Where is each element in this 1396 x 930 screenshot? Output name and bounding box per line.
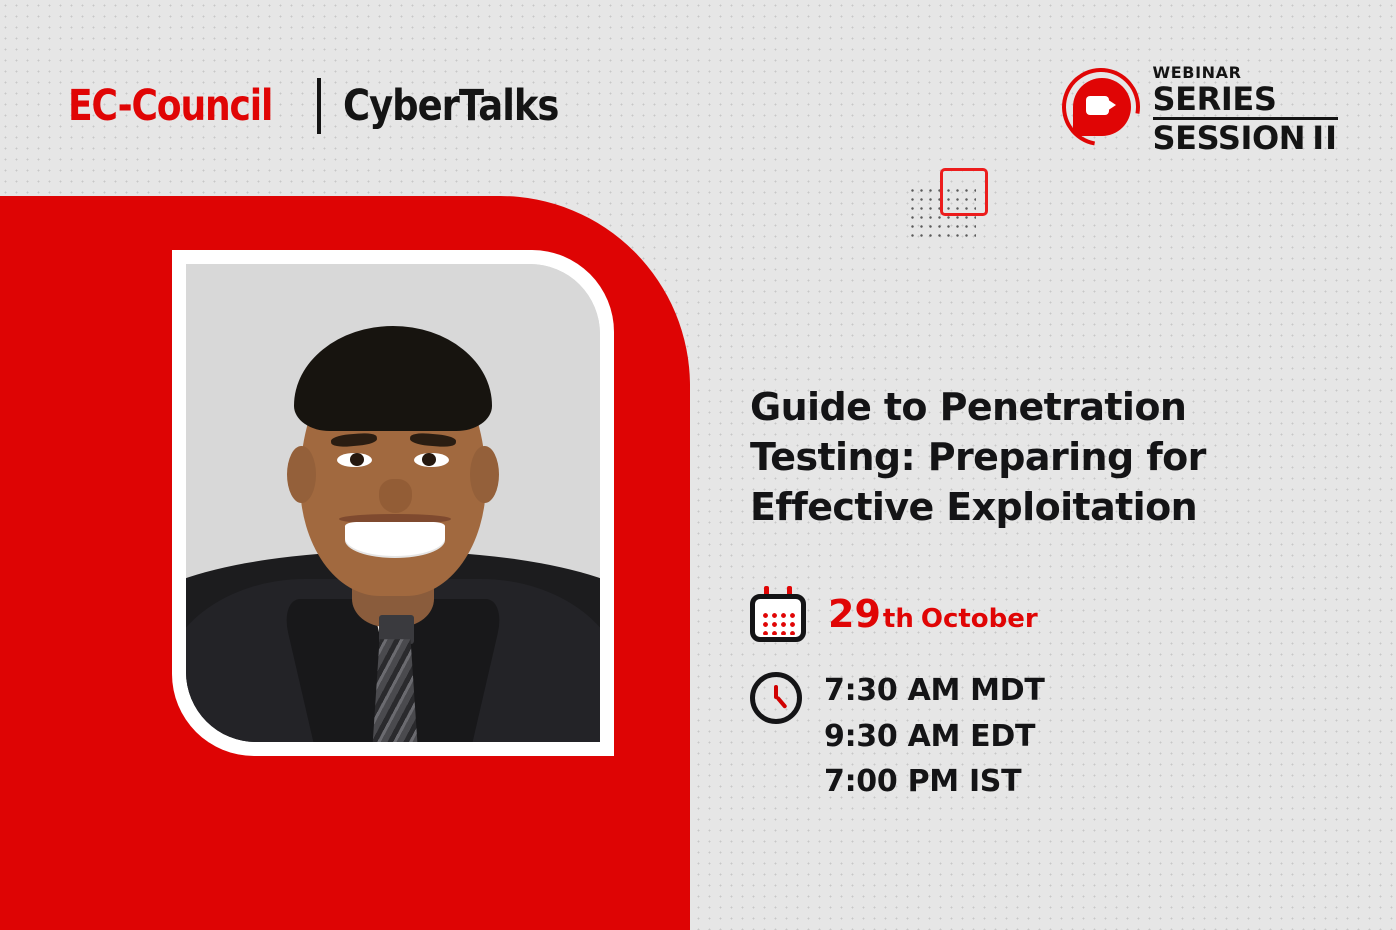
date-day: 29 [828, 592, 881, 636]
time-entry: 9:30 AM EDT [824, 714, 1045, 760]
webinar-banner: EC-Council CyberTalks WEBINAR SERIES SES… [0, 0, 1396, 930]
brand-logo: EC-Council CyberTalks [68, 78, 594, 134]
badge-session-word: SESSION [1153, 119, 1306, 157]
logo-cybertalks: CyberTalks [343, 85, 558, 128]
rounded-square-outline-icon [940, 168, 988, 216]
date-month: October [921, 604, 1038, 634]
badge-session-label: SESSIONII [1153, 120, 1338, 155]
badge-mark [1059, 62, 1149, 158]
time-entry: 7:30 AM MDT [824, 668, 1045, 714]
badge-series-label: SERIES [1153, 83, 1338, 120]
calendar-icon [750, 586, 806, 642]
decorative-graphic [908, 168, 998, 238]
video-camera-icon [1086, 96, 1109, 115]
date-text: 29thOctober [828, 595, 1038, 633]
badge-session-number: II [1312, 119, 1338, 157]
vertical-divider-icon [317, 78, 321, 134]
date-row: 29thOctober [750, 586, 1038, 642]
webinar-series-badge: WEBINAR SERIES SESSIONII [1059, 58, 1338, 162]
page-title: Guide to Penetration Testing: Preparing … [750, 382, 1250, 532]
logo-ec-council: EC-Council [68, 85, 272, 128]
date-suffix: th [883, 604, 914, 634]
speaker-photo-frame [172, 250, 614, 756]
badge-webinar-label: WEBINAR [1153, 65, 1338, 81]
clock-icon [750, 672, 802, 724]
badge-text-block: WEBINAR SERIES SESSIONII [1153, 65, 1338, 154]
speaker-portrait [186, 264, 600, 742]
time-list: 7:30 AM MDT 9:30 AM EDT 7:00 PM IST [824, 668, 1045, 805]
time-entry: 7:00 PM IST [824, 759, 1045, 805]
time-row: 7:30 AM MDT 9:30 AM EDT 7:00 PM IST [750, 668, 1045, 805]
